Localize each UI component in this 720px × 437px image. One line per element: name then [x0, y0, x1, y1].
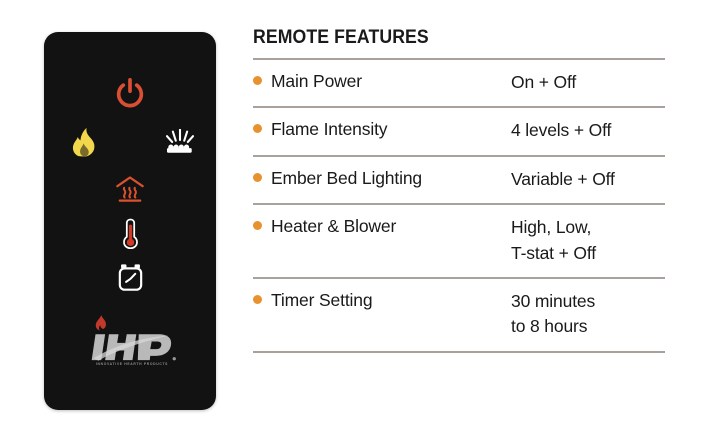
table-row: Flame Intensity 4 levels + Off [253, 108, 665, 154]
bullet-icon [253, 295, 262, 304]
remote-features-infographic: INNOVATIVE HEARTH PRODUCTS REMOTE FEATUR… [0, 0, 720, 437]
feature-name: Ember Bed Lighting [271, 167, 422, 189]
feature-label-cell: Heater & Blower [253, 215, 511, 237]
feature-value-cell: On + Off [511, 70, 665, 95]
feature-value-line: Variable + Off [511, 167, 665, 192]
feature-name: Main Power [271, 70, 362, 92]
alarm-clock-icon[interactable] [110, 256, 150, 298]
feature-value-line: On + Off [511, 70, 665, 95]
feature-label-cell: Ember Bed Lighting [253, 167, 511, 189]
power-icon[interactable] [106, 70, 154, 118]
features-title: REMOTE FEATURES [253, 28, 636, 58]
divider [253, 351, 665, 353]
feature-name: Flame Intensity [271, 118, 387, 140]
feature-value-cell: 4 levels + Off [511, 118, 665, 143]
feature-value-line: to 8 hours [511, 314, 665, 339]
flame-icon[interactable] [62, 120, 106, 164]
ihp-wordmark [92, 334, 171, 360]
feature-value-cell: 30 minutes to 8 hours [511, 289, 665, 340]
bullet-icon [253, 221, 262, 230]
ihp-tagline: INNOVATIVE HEARTH PRODUCTS [84, 362, 180, 366]
table-row: Main Power On + Off [253, 60, 665, 106]
table-row: Timer Setting 30 minutes to 8 hours [253, 279, 665, 351]
feature-value-line: 30 minutes [511, 289, 665, 314]
remote-control-panel: INNOVATIVE HEARTH PRODUCTS [44, 32, 216, 410]
table-row: Ember Bed Lighting Variable + Off [253, 157, 665, 203]
feature-name: Heater & Blower [271, 215, 396, 237]
remote-features-table: REMOTE FEATURES Main Power On + Off Flam… [253, 28, 665, 353]
bullet-icon [253, 76, 262, 85]
heater-blower-icon[interactable] [106, 168, 154, 210]
feature-value-line: 4 levels + Off [511, 118, 665, 143]
ember-bed-icon[interactable] [158, 122, 202, 162]
ihp-logo [84, 314, 180, 366]
ihp-flame-mark [96, 315, 106, 330]
feature-value-cell: High, Low, T-stat + Off [511, 215, 665, 266]
table-row: Heater & Blower High, Low, T-stat + Off [253, 205, 665, 277]
feature-name: Timer Setting [271, 289, 372, 311]
feature-label-cell: Timer Setting [253, 289, 511, 311]
feature-value-cell: Variable + Off [511, 167, 665, 192]
bullet-icon [253, 173, 262, 182]
feature-label-cell: Flame Intensity [253, 118, 511, 140]
feature-value-line: High, Low, [511, 215, 665, 240]
feature-value-line: T-stat + Off [511, 241, 665, 266]
thermometer-icon[interactable] [112, 212, 148, 254]
bullet-icon [253, 124, 262, 133]
feature-label-cell: Main Power [253, 70, 511, 92]
